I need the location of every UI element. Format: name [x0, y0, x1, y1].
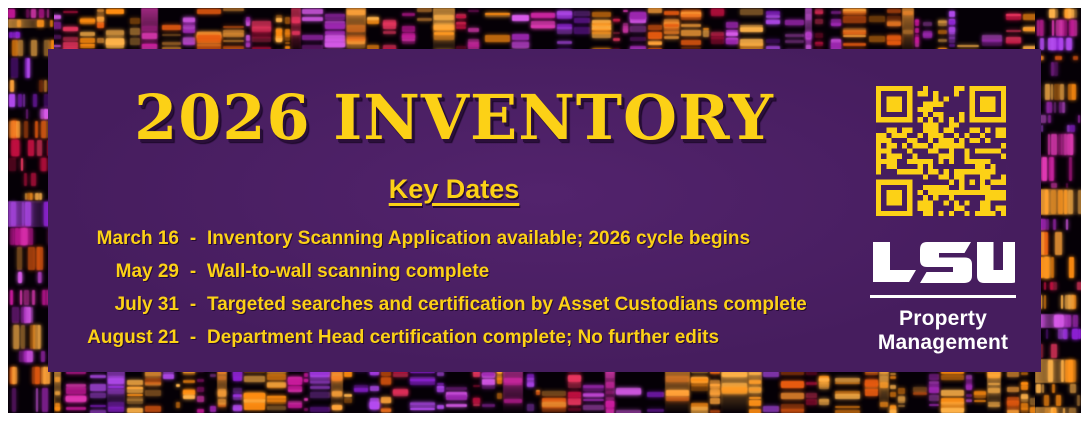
- key-date-date: March 16: [64, 228, 179, 250]
- gel-pattern-bottom-border: [8, 366, 1081, 413]
- inventory-banner: 2026 INVENTORY Key Dates March 16-Invent…: [8, 8, 1081, 413]
- lsu-wordmark-icon: [871, 240, 1015, 284]
- qr-code-graphic: [876, 86, 1006, 216]
- key-dates-heading: Key Dates: [104, 174, 804, 205]
- key-date-description: Inventory Scanning Application available…: [207, 228, 874, 250]
- lockup-divider: [870, 295, 1016, 298]
- key-dates-list: March 16-Inventory Scanning Application …: [64, 228, 874, 360]
- key-date-row: August 21-Department Head certification …: [64, 327, 874, 360]
- key-date-separator: -: [179, 294, 207, 316]
- key-date-row: May 29-Wall-to-wall scanning complete: [64, 261, 874, 294]
- gel-pattern-top-border: [8, 8, 1081, 55]
- lsu-property-management-lockup: Property Management: [868, 240, 1018, 354]
- key-date-separator: -: [179, 327, 207, 349]
- key-date-row: March 16-Inventory Scanning Application …: [64, 228, 874, 261]
- gel-pattern-right-border: [1035, 8, 1081, 413]
- key-date-date: May 29: [64, 261, 179, 283]
- key-date-separator: -: [179, 228, 207, 250]
- key-date-separator: -: [179, 261, 207, 283]
- key-date-row: July 31-Targeted searches and certificat…: [64, 294, 874, 327]
- key-date-description: Wall-to-wall scanning complete: [207, 261, 874, 283]
- lockup-line-1: Property: [868, 307, 1018, 331]
- qr-code-icon[interactable]: [876, 86, 1006, 216]
- lockup-line-2: Management: [868, 331, 1018, 355]
- key-date-date: August 21: [64, 327, 179, 349]
- page-title: 2026 INVENTORY: [104, 82, 804, 154]
- key-date-date: July 31: [64, 294, 179, 316]
- key-date-description: Department Head certification complete; …: [207, 327, 874, 349]
- key-date-description: Targeted searches and certification by A…: [207, 294, 874, 316]
